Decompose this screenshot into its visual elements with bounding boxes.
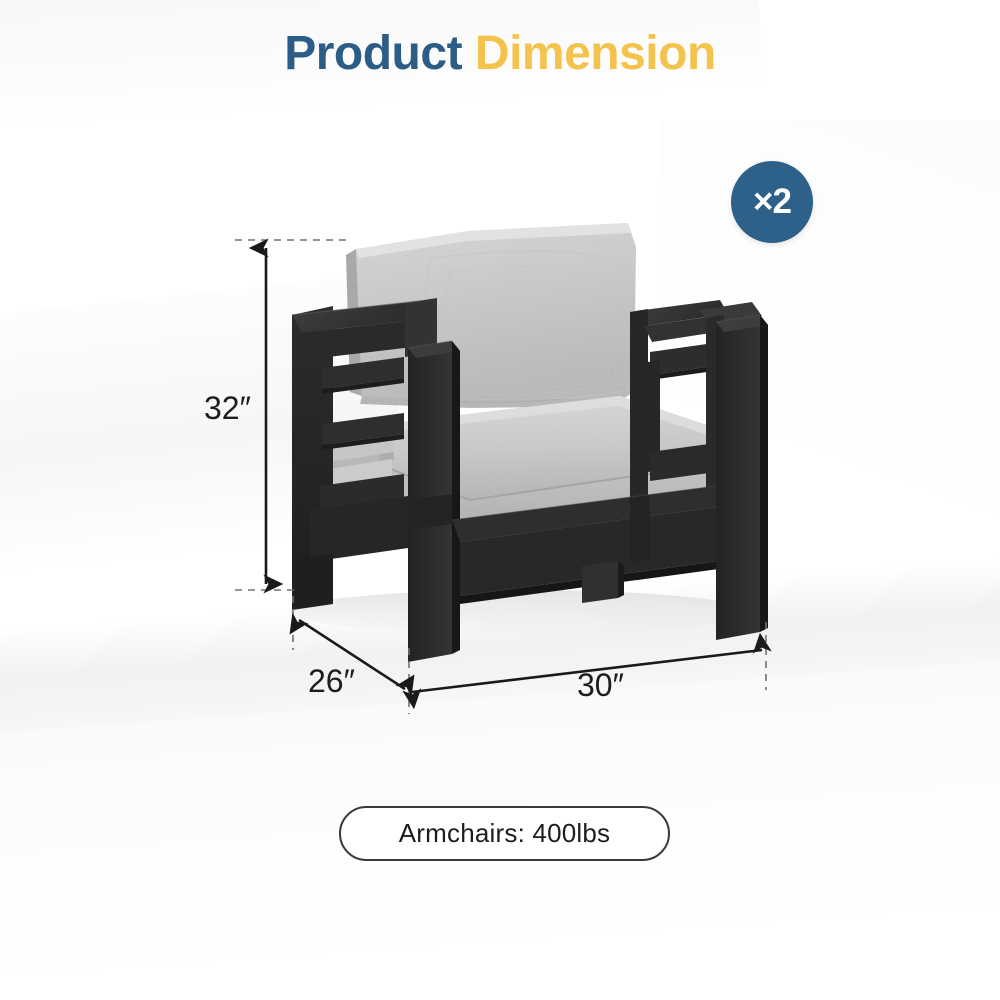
left-arm-frame	[292, 298, 460, 662]
seat-cushion	[372, 396, 722, 556]
page-title: Product Dimension	[0, 26, 1000, 81]
page-title-part-2: Dimension	[475, 27, 716, 80]
weight-capacity-label: Armchairs: 400lbs	[399, 818, 610, 849]
frame-highlights	[292, 301, 760, 520]
quantity-badge-label: ×2	[753, 182, 791, 222]
weight-capacity-badge: Armchairs: 400lbs	[339, 806, 670, 861]
dimension-label-depth: 26″	[308, 663, 355, 700]
left-side-cushion-edges	[324, 428, 394, 518]
rear-legs	[630, 495, 650, 563]
background-band-right	[660, 120, 1000, 640]
seat-frame	[408, 486, 726, 604]
page-title-part-1: Product	[284, 27, 462, 80]
product-dimension-infographic: Product Dimension ×2	[0, 0, 1000, 1000]
dimension-label-height: 32″	[204, 390, 251, 427]
background-floor-edge	[0, 550, 1000, 763]
height-dimension	[235, 240, 352, 590]
dimension-label-width: 30″	[577, 667, 624, 704]
quantity-badge: ×2	[731, 161, 813, 243]
right-arm-frame	[630, 300, 768, 640]
back-cushion	[346, 223, 636, 408]
background-band-left	[0, 274, 412, 587]
